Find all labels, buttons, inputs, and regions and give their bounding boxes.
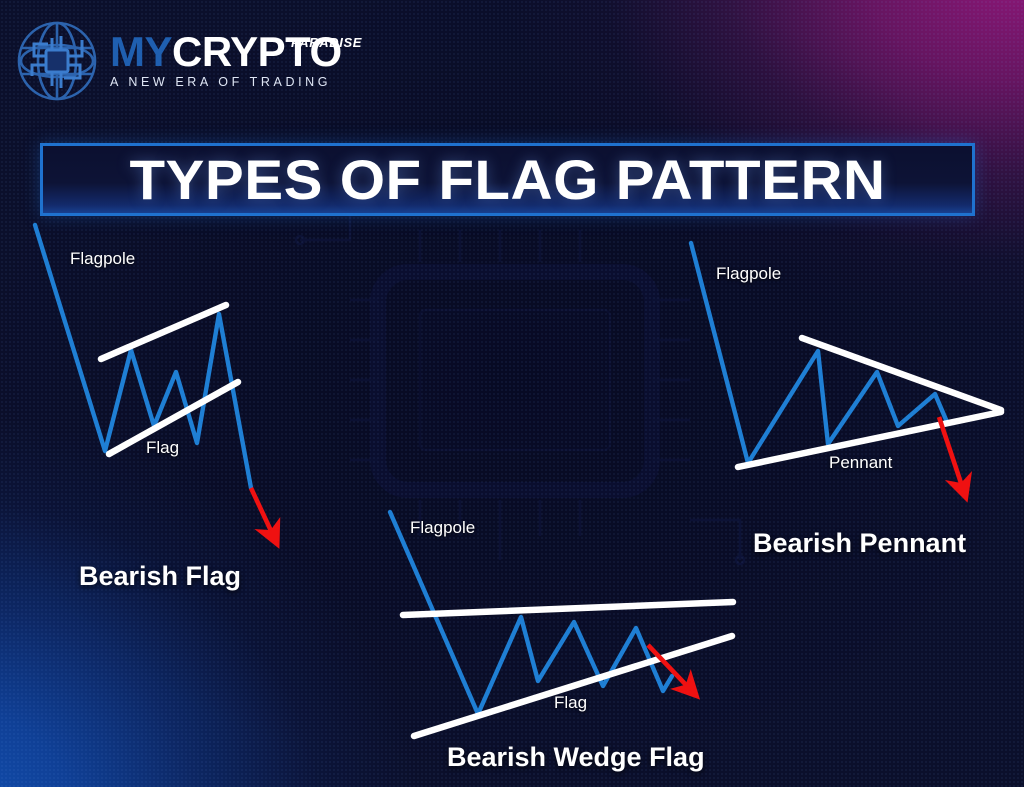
bearish-wedge-flag-channel-label: Flag (554, 693, 587, 713)
pattern-bearish-flag (35, 225, 272, 533)
bearish-flag-title: Bearish Flag (79, 561, 241, 592)
bearish-flag-upper-trendline (101, 305, 226, 359)
bearish-flag-breakdown-arrow (251, 488, 272, 533)
bearish-flag-flagpole-label: Flagpole (70, 249, 135, 269)
bearish-pennant-channel-label: Pennant (829, 453, 892, 473)
bearish-flag-price-line (35, 225, 251, 488)
pattern-diagrams (0, 0, 1024, 787)
bearish-pennant-flagpole-label: Flagpole (716, 264, 781, 284)
bearish-wedge-flag-title: Bearish Wedge Flag (447, 742, 705, 773)
bearish-wedge-flag-flagpole-label: Flagpole (410, 518, 475, 538)
bearish-pennant-upper-trendline (802, 338, 1001, 410)
bearish-pennant-breakdown-arrow (939, 417, 962, 486)
bearish-pennant-title: Bearish Pennant (753, 528, 966, 559)
infographic-canvas: MYCRYPTO PARADISE A NEW ERA OF TRADING T… (0, 0, 1024, 787)
bearish-wedge-upper-trendline (403, 602, 733, 615)
bearish-flag-channel-label: Flag (146, 438, 179, 458)
